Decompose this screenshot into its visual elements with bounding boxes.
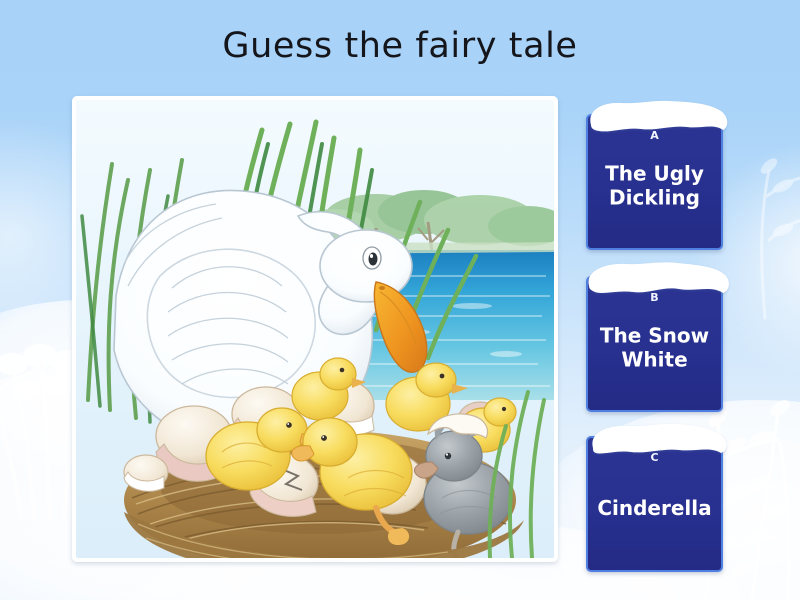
- question-image-frame: [72, 96, 558, 562]
- answer-option-a[interactable]: A The Ugly Dickling: [586, 114, 723, 250]
- answer-letter-a: A: [588, 129, 721, 142]
- answer-label-c: Cinderella: [594, 496, 715, 520]
- ugly-duckling-illustration: [76, 100, 554, 558]
- answer-letter-c: C: [588, 451, 721, 464]
- answer-option-b[interactable]: B The Snow White: [586, 276, 723, 412]
- answer-letter-b: B: [588, 291, 721, 304]
- page-title: Guess the fairy tale: [0, 26, 800, 66]
- frosted-stem-icon: [735, 120, 800, 320]
- answer-label-b: The Snow White: [594, 324, 715, 373]
- answer-option-c[interactable]: C Cinderella: [586, 436, 723, 572]
- quiz-slide: Guess the fairy tale: [0, 0, 800, 600]
- answer-label-a: The Ugly Dickling: [594, 162, 715, 211]
